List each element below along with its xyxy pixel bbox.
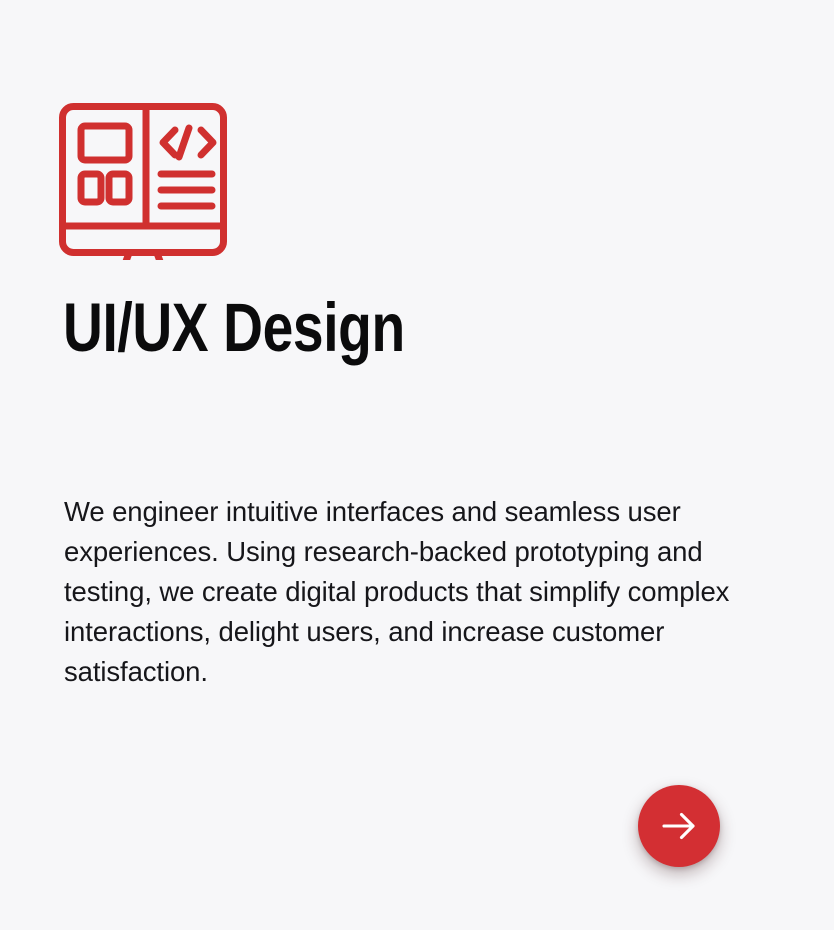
- code-chevron-left: [163, 130, 175, 155]
- next-arrow-button[interactable]: [638, 785, 720, 867]
- wireframe-hero-block: [81, 126, 129, 160]
- monitor-code-layout-icon: [57, 98, 229, 260]
- arrow-right-icon: [657, 804, 701, 848]
- page-title: UI/UX Design: [63, 293, 405, 362]
- wireframe-block-left: [81, 174, 101, 202]
- card-description: We engineer intuitive interfaces and sea…: [64, 492, 794, 692]
- service-card: UI/UX Design We engineer intuitive inter…: [0, 0, 834, 930]
- wireframe-block-right: [109, 174, 129, 202]
- code-chevron-right: [201, 130, 213, 155]
- code-slash: [179, 128, 189, 157]
